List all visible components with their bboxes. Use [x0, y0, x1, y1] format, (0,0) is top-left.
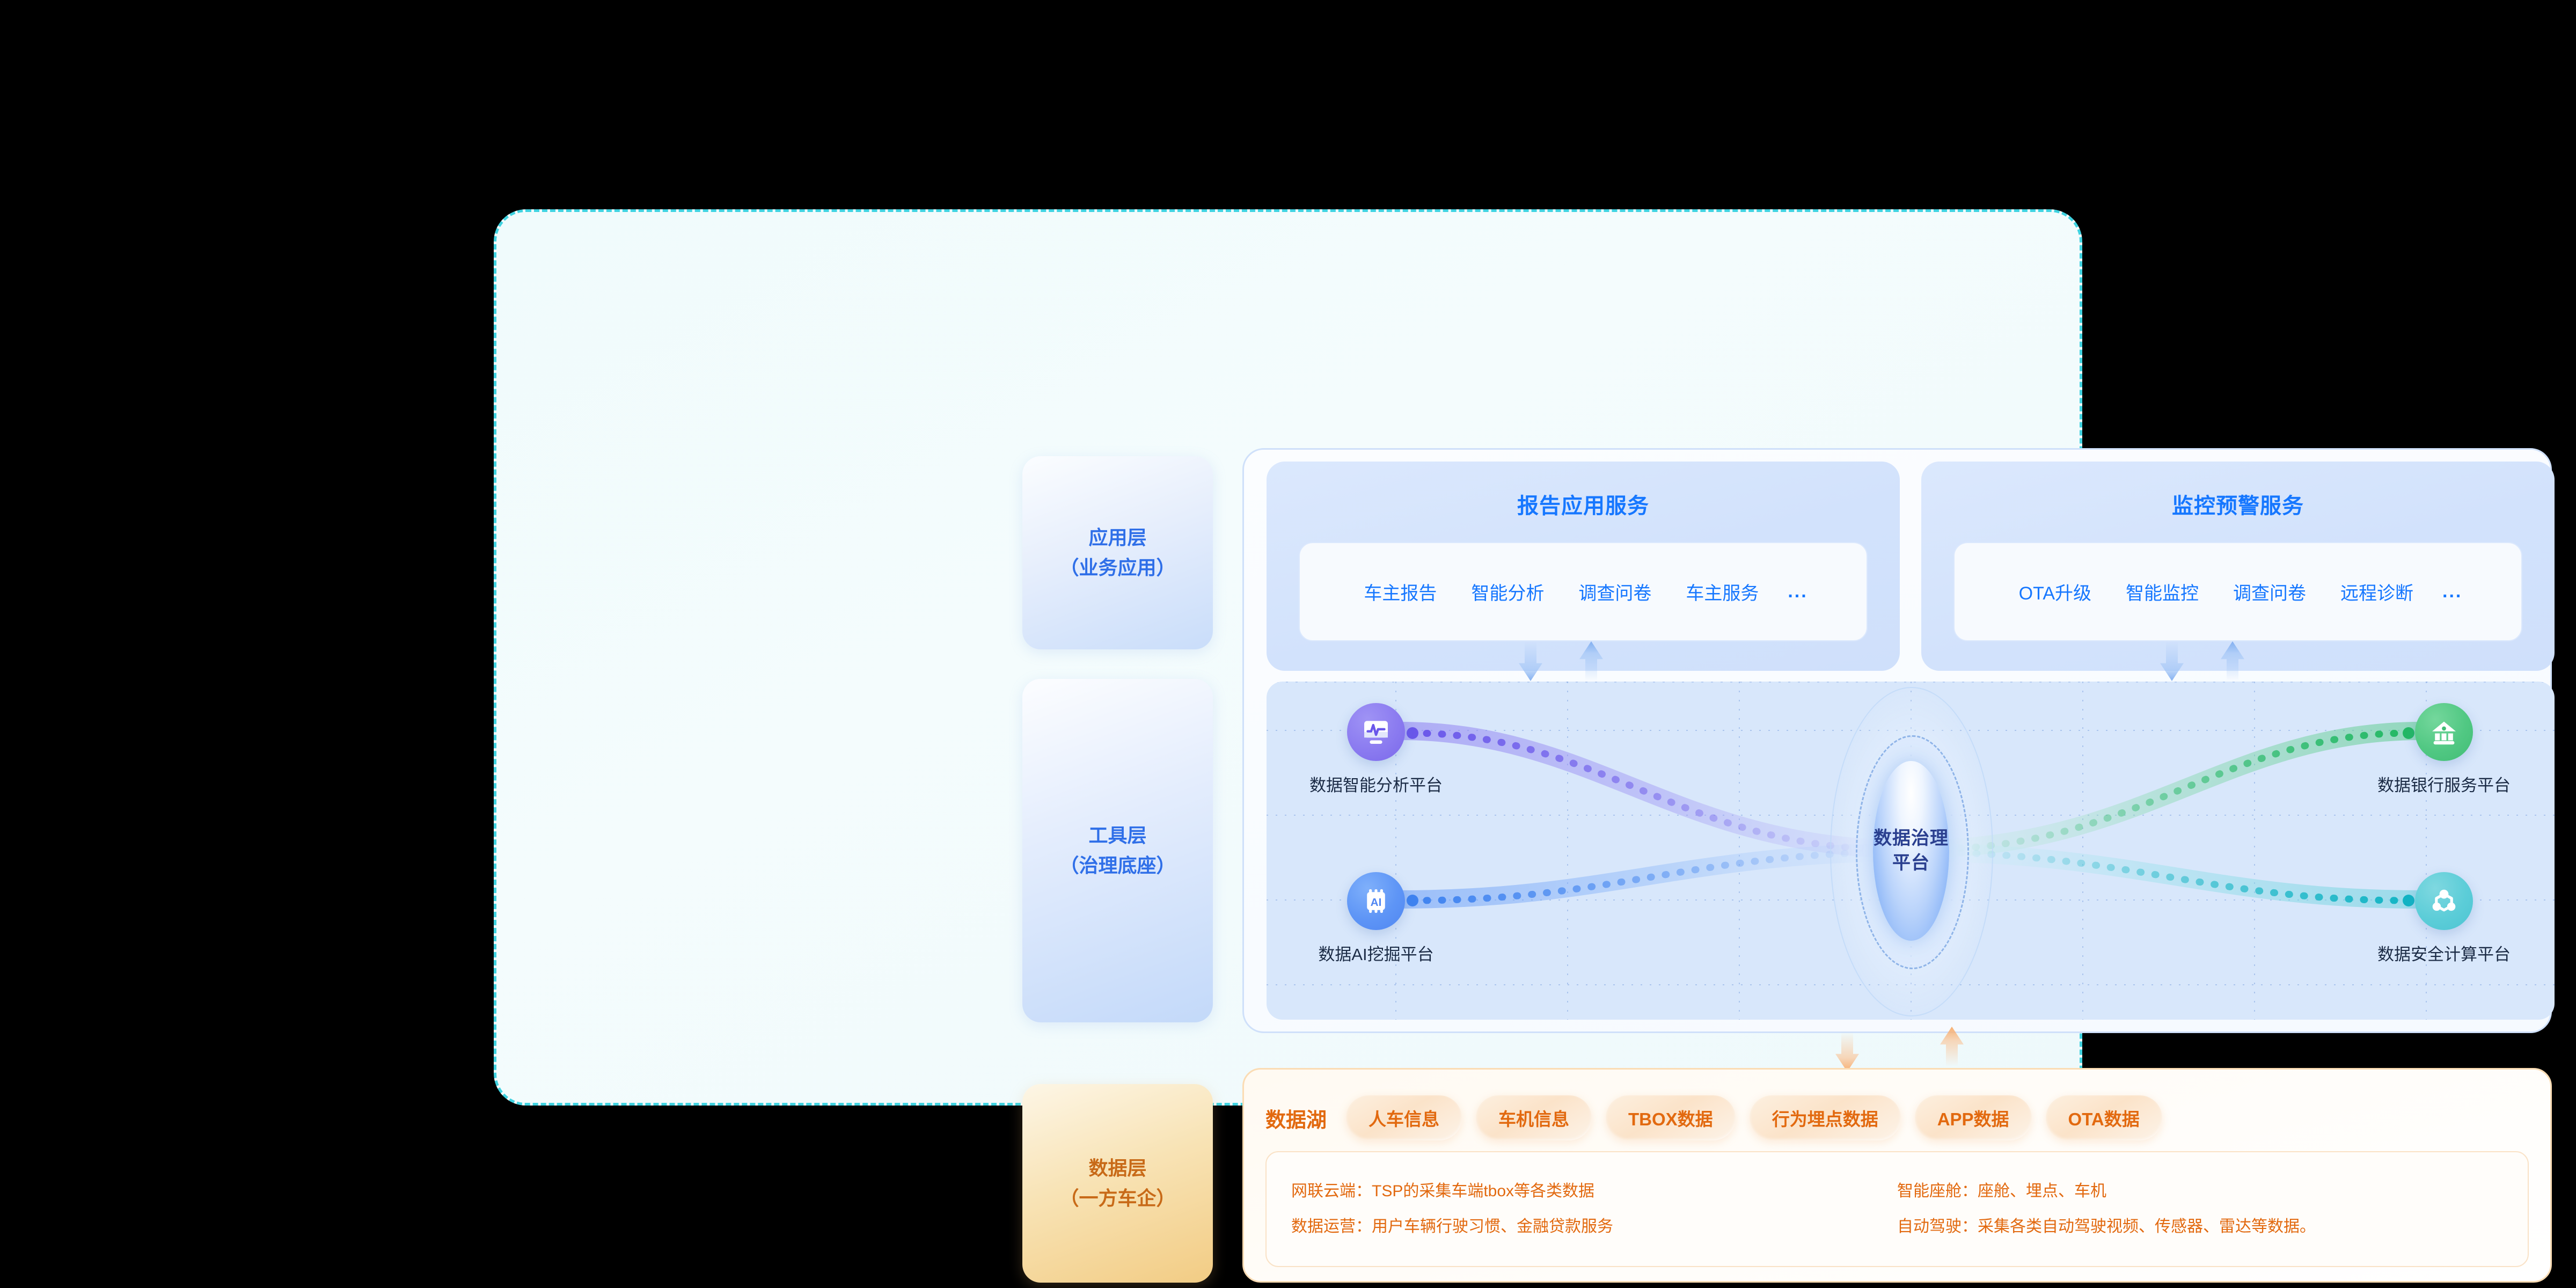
description-column-right: 智能座舱：座舱、埋点、车机 自动驾驶：采集各类自动驾驶视频、传感器、雷达等数据。: [1897, 1170, 2503, 1248]
diagram-canvas: 应用层 （业务应用） 工具层 （治理底座） 数据层 （一方车企） 报告应用服务 …: [0, 0, 2576, 1288]
description-autonomous-driving: 自动驾驶：采集各类自动驾驶视频、传感器、雷达等数据。: [1897, 1217, 2503, 1236]
node-data-bank-platform[interactable]: 数据银行服务平台: [2415, 703, 2473, 761]
service-item-more[interactable]: ...: [1776, 581, 1819, 602]
hub-label-line2: 平台: [1892, 853, 1930, 873]
arrow-down-to-data: [1835, 1032, 1859, 1072]
monitor-chart-icon: [1347, 703, 1405, 761]
layer-label-application-sub: （业务应用）: [1059, 553, 1175, 583]
node-label-data-analysis: 数据智能分析平台: [1309, 772, 1443, 796]
node-label-data-security: 数据安全计算平台: [2377, 941, 2511, 965]
data-tag-tbox[interactable]: TBOX数据: [1606, 1095, 1736, 1140]
service-item-smart-analysis[interactable]: 智能分析: [1454, 579, 1561, 605]
service-card-monitor-items: OTA升级 智能监控 调查问卷 远程诊断 ...: [1953, 542, 2522, 641]
bank-building-icon: [2415, 703, 2473, 761]
data-tag-vehicle-machine[interactable]: 车机信息: [1476, 1095, 1592, 1140]
layer-label-tool-title: 工具层: [1088, 821, 1146, 851]
description-smart-cockpit: 智能座舱：座舱、埋点、车机: [1897, 1182, 2503, 1201]
description-column-left: 网联云端：TSP的采集车端tbox等各类数据 数据运营：用户车辆行驶习惯、金融贷…: [1291, 1170, 1897, 1248]
data-lake-tag-row: 数据湖 人车信息 车机信息 TBOX数据 行为埋点数据 APP数据 OTA数据: [1265, 1093, 2529, 1143]
node-data-ai-platform[interactable]: AI 数据AI挖掘平台: [1347, 872, 1405, 930]
svg-text:AI: AI: [1371, 896, 1382, 909]
layer-label-data: 数据层 （一方车企）: [1022, 1084, 1213, 1283]
service-item-more-2[interactable]: ...: [2431, 581, 2474, 602]
service-card-report-title: 报告应用服务: [1267, 488, 1900, 519]
service-item-ota-upgrade[interactable]: OTA升级: [2002, 579, 2109, 605]
node-data-security-platform[interactable]: 数据安全计算平台: [2415, 872, 2473, 930]
data-lake-title: 数据湖: [1265, 1103, 1327, 1133]
data-tag-ota[interactable]: OTA数据: [2046, 1095, 2162, 1140]
data-tag-app[interactable]: APP数据: [1915, 1095, 2032, 1140]
tool-canvas: 数据治理 平台 数据智能分析平台: [1267, 682, 2555, 1020]
service-item-smart-monitor[interactable]: 智能监控: [2109, 579, 2216, 605]
architecture-frame: 应用层 （业务应用） 工具层 （治理底座） 数据层 （一方车企） 报告应用服务 …: [494, 209, 2082, 1106]
node-data-analysis-platform[interactable]: 数据智能分析平台: [1347, 703, 1405, 761]
node-label-data-bank: 数据银行服务平台: [2377, 772, 2511, 796]
description-data-operation: 数据运营：用户车辆行驶习惯、金融贷款服务: [1291, 1217, 1897, 1236]
layer-label-data-sub: （一方车企）: [1059, 1183, 1175, 1213]
service-card-report-items: 车主报告 智能分析 调查问卷 车主服务 ...: [1299, 542, 1868, 641]
secure-network-icon: [2415, 872, 2473, 930]
layer-label-application-title: 应用层: [1088, 523, 1146, 553]
data-lake-description-box: 网联云端：TSP的采集车端tbox等各类数据 数据运营：用户车辆行驶习惯、金融贷…: [1265, 1151, 2529, 1267]
service-card-report[interactable]: 报告应用服务 车主报告 智能分析 调查问卷 车主服务 ...: [1267, 462, 1900, 671]
layer-label-tool-sub: （治理底座）: [1059, 851, 1175, 881]
data-tag-behavior-tracking[interactable]: 行为埋点数据: [1750, 1095, 1901, 1140]
service-card-monitor[interactable]: 监控预警服务 OTA升级 智能监控 调查问卷 远程诊断 ...: [1921, 462, 2555, 671]
service-item-owner-service[interactable]: 车主服务: [1668, 579, 1776, 605]
service-item-remote-diagnosis[interactable]: 远程诊断: [2323, 579, 2431, 605]
hub-core[interactable]: 数据治理 平台: [1873, 761, 1949, 941]
data-lake-panel: 数据湖 人车信息 车机信息 TBOX数据 行为埋点数据 APP数据 OTA数据 …: [1242, 1068, 2552, 1283]
service-item-survey-2[interactable]: 调查问卷: [2216, 579, 2323, 605]
layer-label-application: 应用层 （业务应用）: [1022, 456, 1213, 649]
description-cloud-connected: 网联云端：TSP的采集车端tbox等各类数据: [1291, 1182, 1897, 1201]
ai-chip-icon: AI: [1347, 872, 1405, 930]
layer-label-tool: 工具层 （治理底座）: [1022, 679, 1213, 1022]
service-item-owner-report[interactable]: 车主报告: [1346, 579, 1454, 605]
node-label-data-ai: 数据AI挖掘平台: [1318, 941, 1433, 965]
service-item-survey[interactable]: 调查问卷: [1561, 579, 1668, 605]
data-tag-person-vehicle[interactable]: 人车信息: [1346, 1095, 1462, 1140]
service-card-monitor-title: 监控预警服务: [1921, 488, 2555, 519]
layer-label-data-title: 数据层: [1088, 1153, 1146, 1183]
hub-label-line1: 数据治理: [1874, 828, 1949, 848]
